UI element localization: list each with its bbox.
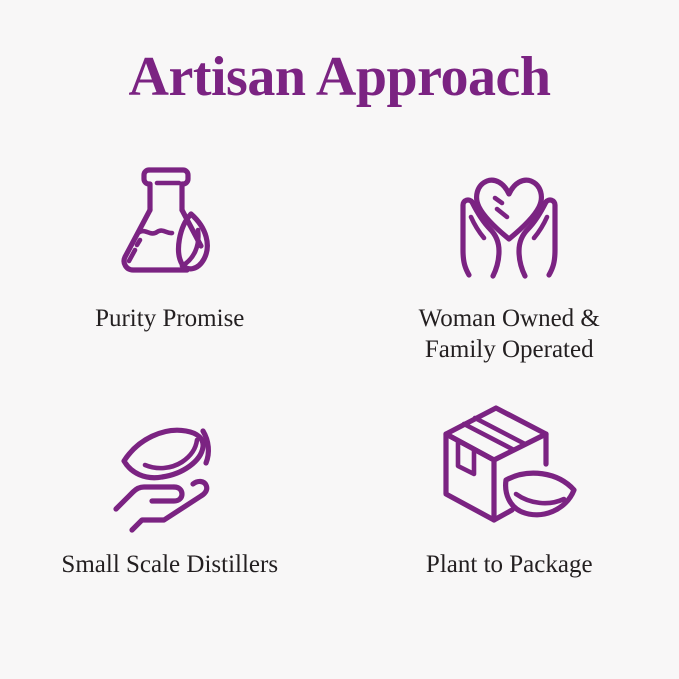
flask-leaf-icon — [90, 149, 250, 289]
feature-item-purity-promise: Purity Promise — [0, 149, 340, 395]
feature-label: Small Scale Distillers — [61, 549, 278, 580]
feature-item-woman-owned: Woman Owned & Family Operated — [340, 149, 679, 395]
box-leaf-icon — [429, 395, 589, 535]
feature-label: Plant to Package — [426, 549, 593, 580]
hand-leaf-icon — [90, 395, 250, 535]
hands-heart-icon — [429, 149, 589, 289]
page-title: Artisan Approach — [129, 0, 551, 107]
feature-label: Purity Promise — [95, 303, 244, 334]
artisan-approach-infographic: Artisan Approach — [0, 0, 679, 679]
feature-item-small-scale-distillers: Small Scale Distillers — [0, 395, 340, 641]
feature-grid: Purity Promise — [0, 149, 679, 641]
feature-item-plant-to-package: Plant to Package — [340, 395, 679, 641]
feature-label: Woman Owned & Family Operated — [419, 303, 600, 366]
